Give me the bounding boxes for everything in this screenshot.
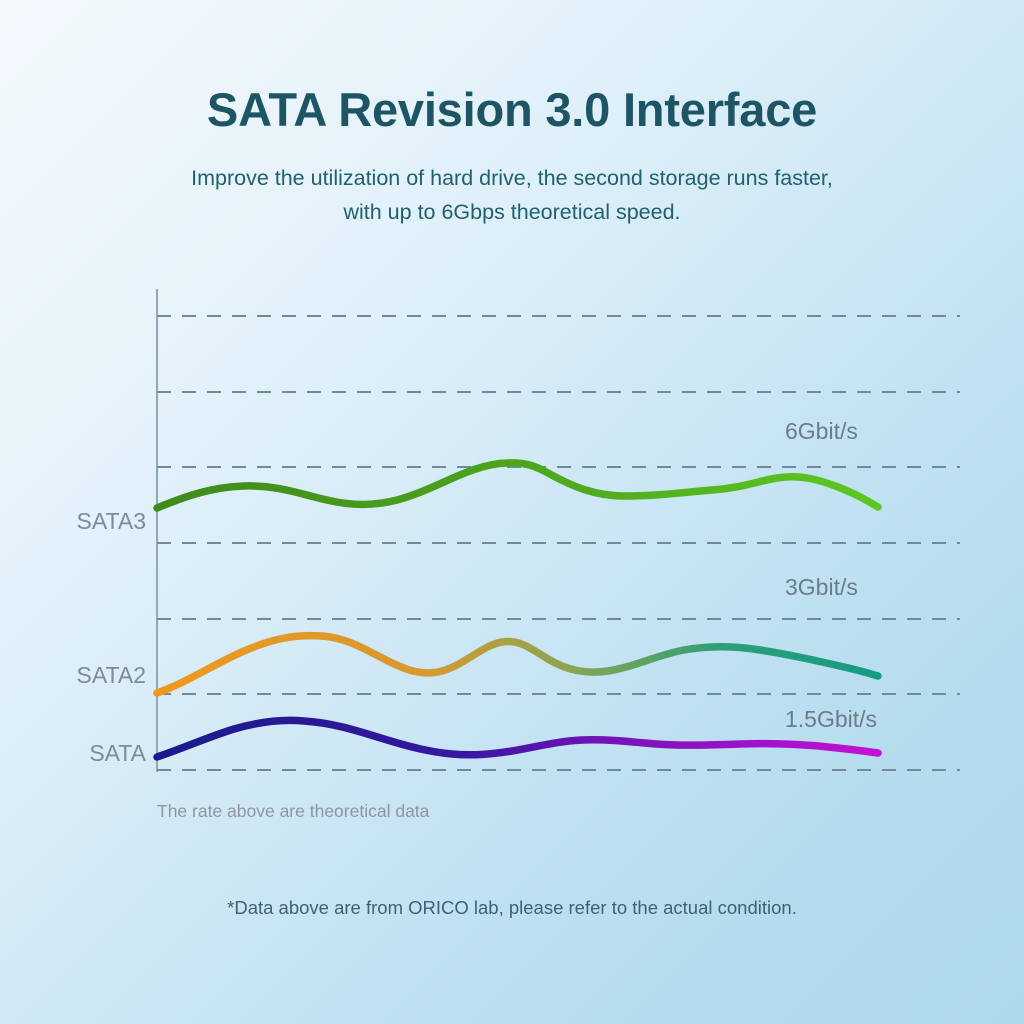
- series-line-sata3: [157, 463, 878, 508]
- rate-label-6gbit: 6Gbit/s: [785, 418, 858, 445]
- subtitle-line-1: Improve the utilization of hard drive, t…: [0, 161, 1024, 196]
- rate-label-1-5gbit: 1.5Gbit/s: [785, 706, 877, 733]
- subtitle-line-2: with up to 6Gbps theoretical speed.: [0, 195, 1024, 230]
- series-label-sata2: SATA2: [24, 662, 146, 689]
- series-line-sata: [157, 720, 878, 757]
- chart-note-theoretical: The rate above are theoretical data: [157, 801, 429, 822]
- series-label-sata3: SATA3: [24, 508, 146, 535]
- chart-footnote: *Data above are from ORICO lab, please r…: [0, 897, 1024, 919]
- product-infographic-page: SATA Revision 3.0 Interface Improve the …: [0, 0, 1024, 1024]
- gridlines: [157, 316, 960, 770]
- series-label-sata: SATA: [24, 740, 146, 767]
- rate-label-3gbit: 3Gbit/s: [785, 574, 858, 601]
- page-title: SATA Revision 3.0 Interface: [0, 0, 1024, 137]
- page-subtitle: Improve the utilization of hard drive, t…: [0, 137, 1024, 231]
- series-line-sata2: [157, 636, 878, 693]
- header: SATA Revision 3.0 Interface Improve the …: [0, 0, 1024, 230]
